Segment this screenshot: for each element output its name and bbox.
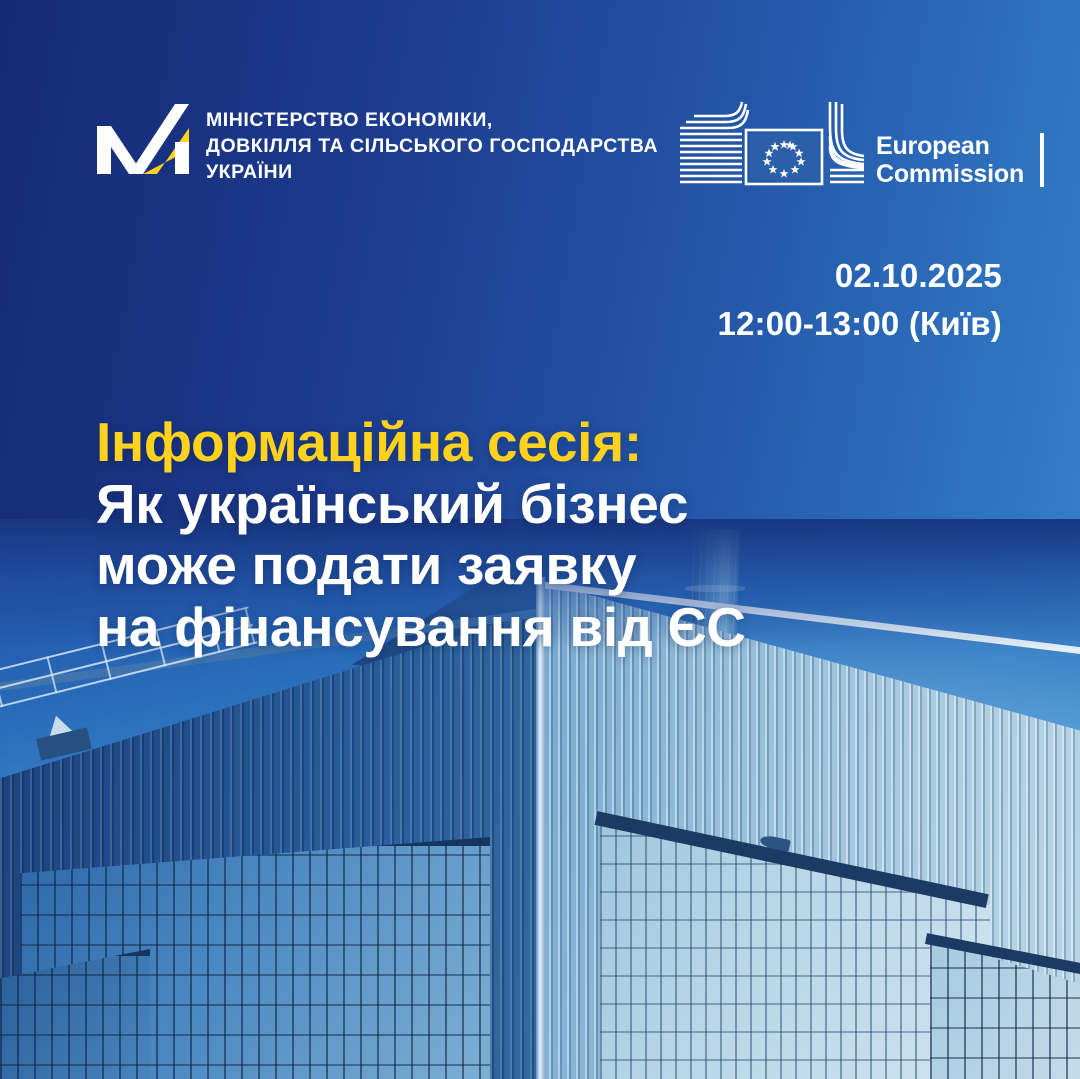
european-commission-logo: European Commission xyxy=(676,100,1044,196)
ministry-name-line1: МІНІСТЕРСТВО ЕКОНОМІКИ, xyxy=(206,107,658,133)
ec-vertical-bar xyxy=(1040,133,1044,187)
headline-line-2: Як український бізнес xyxy=(96,474,746,536)
ministry-name: МІНІСТЕРСТВО ЕКОНОМІКИ, ДОВКІЛЛЯ ТА СІЛЬ… xyxy=(206,107,658,185)
headline-line-3: може подати заявку xyxy=(96,535,746,597)
event-time: 12:00-13:00 (Київ) xyxy=(717,300,1002,348)
headline-line-1: Інформаційна сесія: xyxy=(96,412,746,474)
ec-wordmark-line2: Commission xyxy=(876,160,1024,188)
ec-wordmark-line1: European xyxy=(876,132,1024,160)
ministry-logo: МІНІСТЕРСТВО ЕКОНОМІКИ, ДОВКІЛЛЯ ТА СІЛЬ… xyxy=(97,104,658,188)
eu-flag-emblem-icon xyxy=(676,100,866,196)
ministry-name-line2: ДОВКІЛЛЯ ТА СІЛЬСЬКОГО ГОСПОДАРСТВА xyxy=(206,133,658,159)
event-announcement-poster: МІНІСТЕРСТВО ЕКОНОМІКИ, ДОВКІЛЛЯ ТА СІЛЬ… xyxy=(0,0,1080,1079)
ministry-name-line3: УКРАЇНИ xyxy=(206,159,658,185)
poster-header: МІНІСТЕРСТВО ЕКОНОМІКИ, ДОВКІЛЛЯ ТА СІЛЬ… xyxy=(0,96,1080,206)
headline-line-4: на фінансування від ЄС xyxy=(96,597,746,659)
european-commission-wordmark: European Commission xyxy=(876,132,1024,197)
event-date: 02.10.2025 xyxy=(717,252,1002,300)
ministry-m-mark-icon xyxy=(97,104,189,188)
event-datetime: 02.10.2025 12:00-13:00 (Київ) xyxy=(717,252,1002,347)
page-title: Інформаційна сесія: Як український бізне… xyxy=(96,412,746,658)
